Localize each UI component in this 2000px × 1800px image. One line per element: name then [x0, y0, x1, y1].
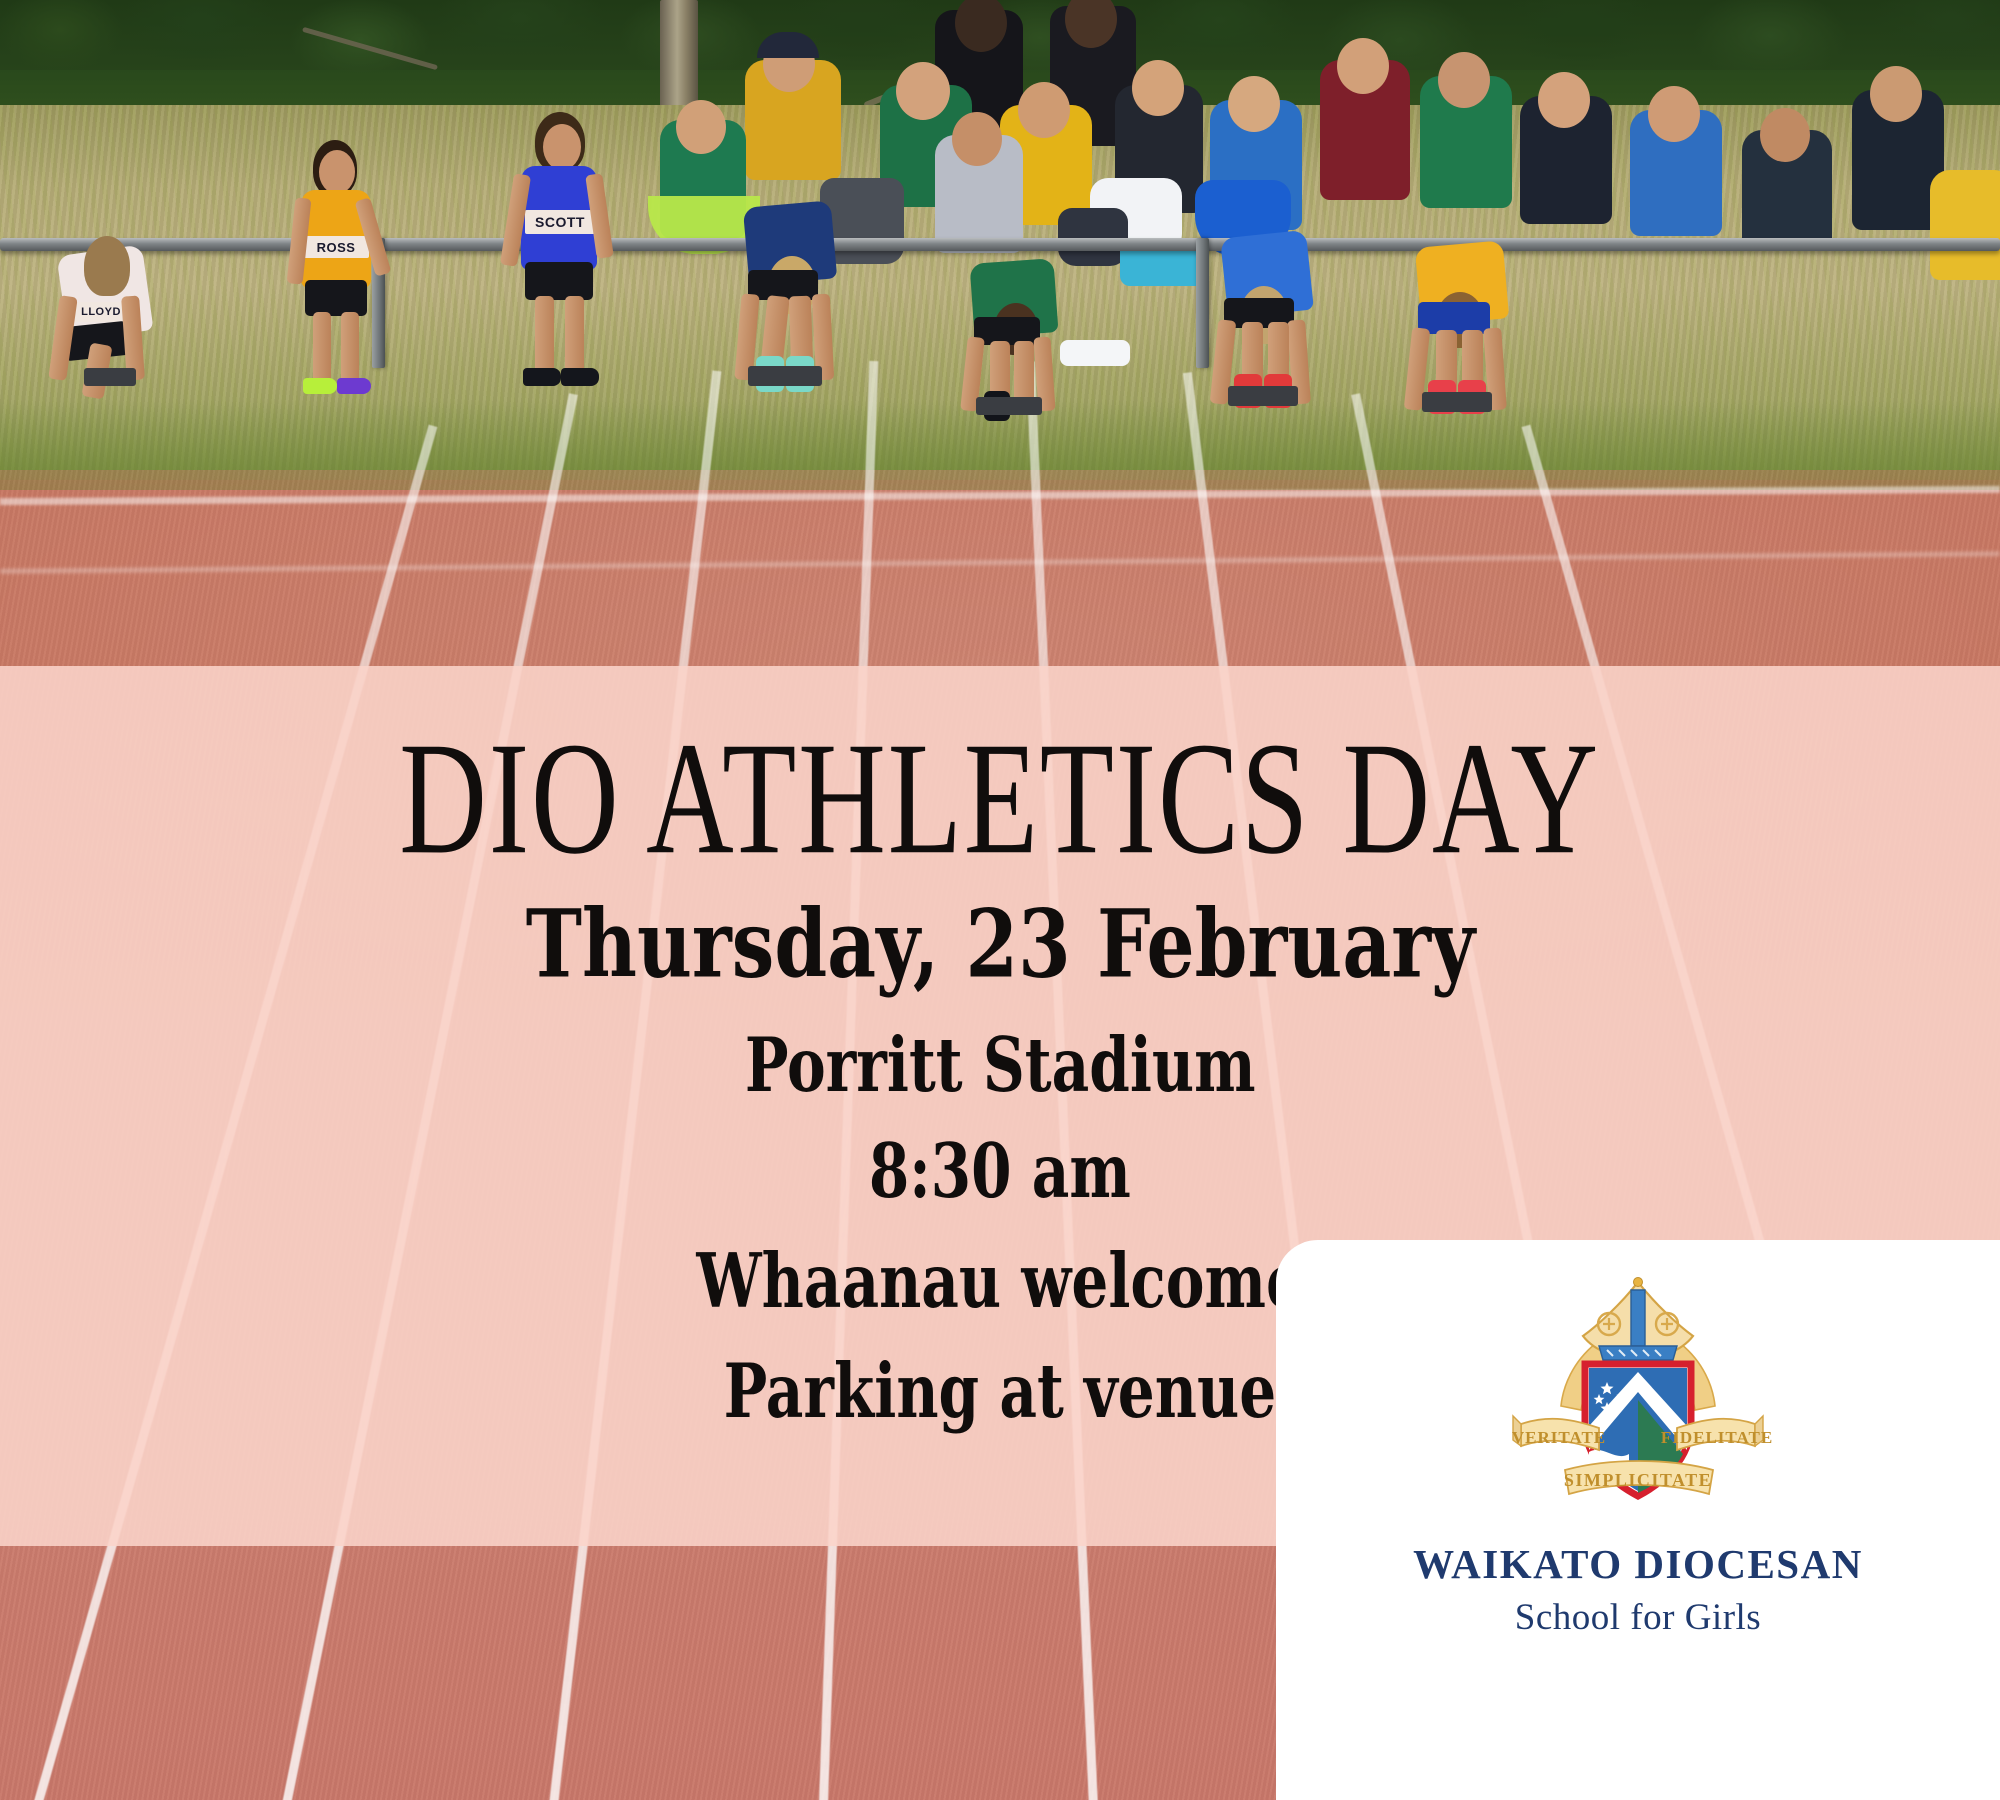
running-shoe	[561, 368, 599, 386]
spectator-head	[1228, 76, 1280, 132]
school-name: WAIKATO DIOCESAN	[1413, 1540, 1863, 1588]
starting-block	[976, 397, 1042, 415]
athlete-crouched	[1390, 240, 1560, 420]
athlete-crouched	[1198, 230, 1363, 410]
spectator-head	[1132, 60, 1184, 116]
spectator-head	[1648, 86, 1700, 142]
starting-block	[1422, 392, 1492, 412]
page-title: DIO ATHLETICS DAY	[400, 718, 1601, 879]
athlete-crouched: LLOYD	[40, 240, 200, 400]
spectator-head	[952, 112, 1002, 166]
poster-canvas: LLOYD ROSS	[0, 0, 2000, 1800]
event-note-parking: Parking at venue	[724, 1353, 1277, 1428]
spectator-head	[676, 100, 726, 154]
starting-block	[84, 368, 136, 386]
head	[543, 124, 581, 170]
spectator	[1930, 170, 2000, 280]
event-time: 8:30 am	[869, 1133, 1131, 1208]
event-date: Thursday, 23 February	[525, 897, 1474, 991]
hair	[84, 236, 130, 296]
school-crest-icon: VERITATE FIDELITATE SIMPLICITATE	[1503, 1274, 1773, 1524]
athlete-crouched	[720, 200, 890, 400]
bib: SCOTT	[525, 210, 595, 234]
spectator-head	[896, 62, 950, 120]
event-note-whaanau: Whaanau welcome	[697, 1243, 1304, 1318]
spectator-head	[1760, 108, 1810, 162]
svg-text:SIMPLICITATE: SIMPLICITATE	[1564, 1470, 1712, 1490]
running-shoe	[303, 378, 337, 394]
spectator-head	[1337, 38, 1389, 94]
event-venue: Porritt Stadium	[745, 1027, 1256, 1102]
head	[319, 150, 355, 194]
starting-block	[748, 366, 822, 386]
school-logo-card: VERITATE FIDELITATE SIMPLICITATE WAIKATO…	[1276, 1240, 2000, 1800]
athlete-standing-ross: ROSS	[275, 140, 395, 400]
spectator-head	[1538, 72, 1590, 128]
running-shoe	[523, 368, 561, 386]
spectator-head	[1870, 66, 1922, 122]
bib: ROSS	[303, 236, 369, 258]
athlete-standing-scott: SCOTT	[495, 112, 625, 397]
running-shoe	[337, 378, 371, 394]
leg	[1014, 341, 1034, 403]
shorts	[525, 262, 593, 300]
svg-text:FIDELITATE: FIDELITATE	[1661, 1428, 1773, 1447]
school-tagline: School for Girls	[1515, 1596, 1761, 1639]
shorts	[305, 280, 367, 316]
athlete-crouched	[948, 255, 1108, 415]
spectator-head	[1438, 52, 1490, 108]
svg-text:VERITATE: VERITATE	[1512, 1428, 1606, 1447]
starting-block	[1228, 386, 1298, 406]
spectator-head	[1018, 82, 1070, 138]
